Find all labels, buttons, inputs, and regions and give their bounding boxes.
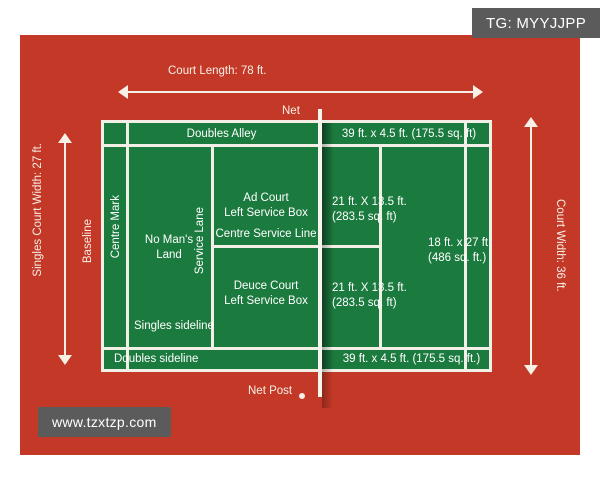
deuce-court-label: Deuce Court Left Service Box [214, 279, 318, 309]
net-post-dot [299, 393, 305, 399]
service-line-right [379, 144, 382, 348]
singles-sideline-left [126, 123, 129, 369]
back-court-area-label: 18 ft. x 27 ft. (486 sq. ft.) [428, 236, 514, 266]
doubles-alley-bottom-line [104, 347, 489, 350]
tennis-court: Doubles Alley 39 ft. x 4.5 ft. (175.5 sq… [101, 120, 492, 372]
service-box-top-area-label: 21 ft. X 13.5 ft. (283.5 sq. ft) [332, 195, 418, 225]
net-label: Net [282, 105, 300, 117]
ad-court-label: Ad Court Left Service Box [214, 191, 318, 221]
net-line [318, 109, 322, 397]
tg-tag-text: TG: MYYJJPP [486, 15, 586, 32]
service-lane-label: Service Lane [194, 207, 206, 274]
centre-service-line [211, 245, 382, 248]
diagram-canvas: Court Length: 78 ft. Net Net Post Single… [20, 35, 580, 455]
doubles-alley-top-line [104, 144, 489, 147]
singles-sideline-label: Singles sideline [134, 319, 264, 334]
court-length-arrow [118, 85, 483, 99]
service-box-bottom-area-label: 21 ft. X 13.5 ft. (283.5 sq. ft) [332, 281, 418, 311]
court-width-arrow [524, 117, 538, 375]
net-post-label: Net Post [248, 385, 292, 397]
baseline-label: Baseline [82, 219, 94, 263]
court-width-label: Court Width: 36 ft. [554, 199, 566, 292]
website-watermark-text: www.tzxtzp.com [52, 414, 157, 430]
centre-mark-label: Centre Mark [110, 195, 122, 258]
doubles-sideline-label: Doubles sideline [114, 352, 254, 367]
tg-tag-watermark: TG: MYYJJPP [472, 8, 600, 38]
service-line-left [211, 144, 214, 348]
doubles-alley-bottom-right-label: 39 ft. x 4.5 ft. (175.5 sq. ft.) [329, 352, 494, 367]
website-watermark: www.tzxtzp.com [38, 407, 171, 437]
singles-court-width-label: Singles Court Width: 27 ft. [32, 143, 44, 277]
singles-court-width-arrow [58, 133, 72, 365]
centre-service-line-label: Centre Service Line [211, 227, 321, 242]
doubles-alley-top-label: Doubles Alley [134, 127, 309, 142]
court-length-label: Court Length: 78 ft. [168, 65, 266, 77]
doubles-alley-top-right-label: 39 ft. x 4.5 ft. (175.5 sq. ft) [329, 127, 489, 142]
